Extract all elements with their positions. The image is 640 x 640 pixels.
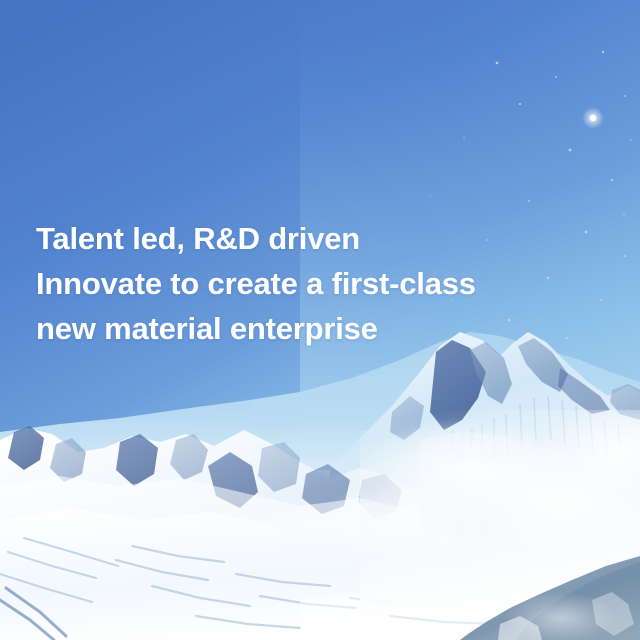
star-speck xyxy=(463,137,465,139)
star-speck xyxy=(547,277,549,279)
star-speck xyxy=(486,239,488,241)
star-speck xyxy=(602,51,604,53)
star-speck xyxy=(611,179,613,181)
star-speck xyxy=(600,299,602,301)
star-speck xyxy=(429,195,431,197)
star-speck xyxy=(624,95,626,97)
star-speck xyxy=(519,103,521,105)
star-speck xyxy=(508,319,510,321)
star-speck xyxy=(566,337,568,339)
hero-banner: Talent led, R&D driven Innovate to creat… xyxy=(0,0,640,640)
star-speck xyxy=(528,200,530,202)
star-speck xyxy=(624,255,626,257)
star-speck xyxy=(555,76,557,78)
star-speck xyxy=(623,213,625,215)
star-speck xyxy=(590,115,597,122)
star-speck xyxy=(451,299,453,301)
mountain-scene-illustration xyxy=(0,0,640,640)
star-speck xyxy=(630,139,632,141)
star-speck xyxy=(569,149,572,152)
star-speck xyxy=(585,231,588,234)
star-speck xyxy=(496,62,499,65)
